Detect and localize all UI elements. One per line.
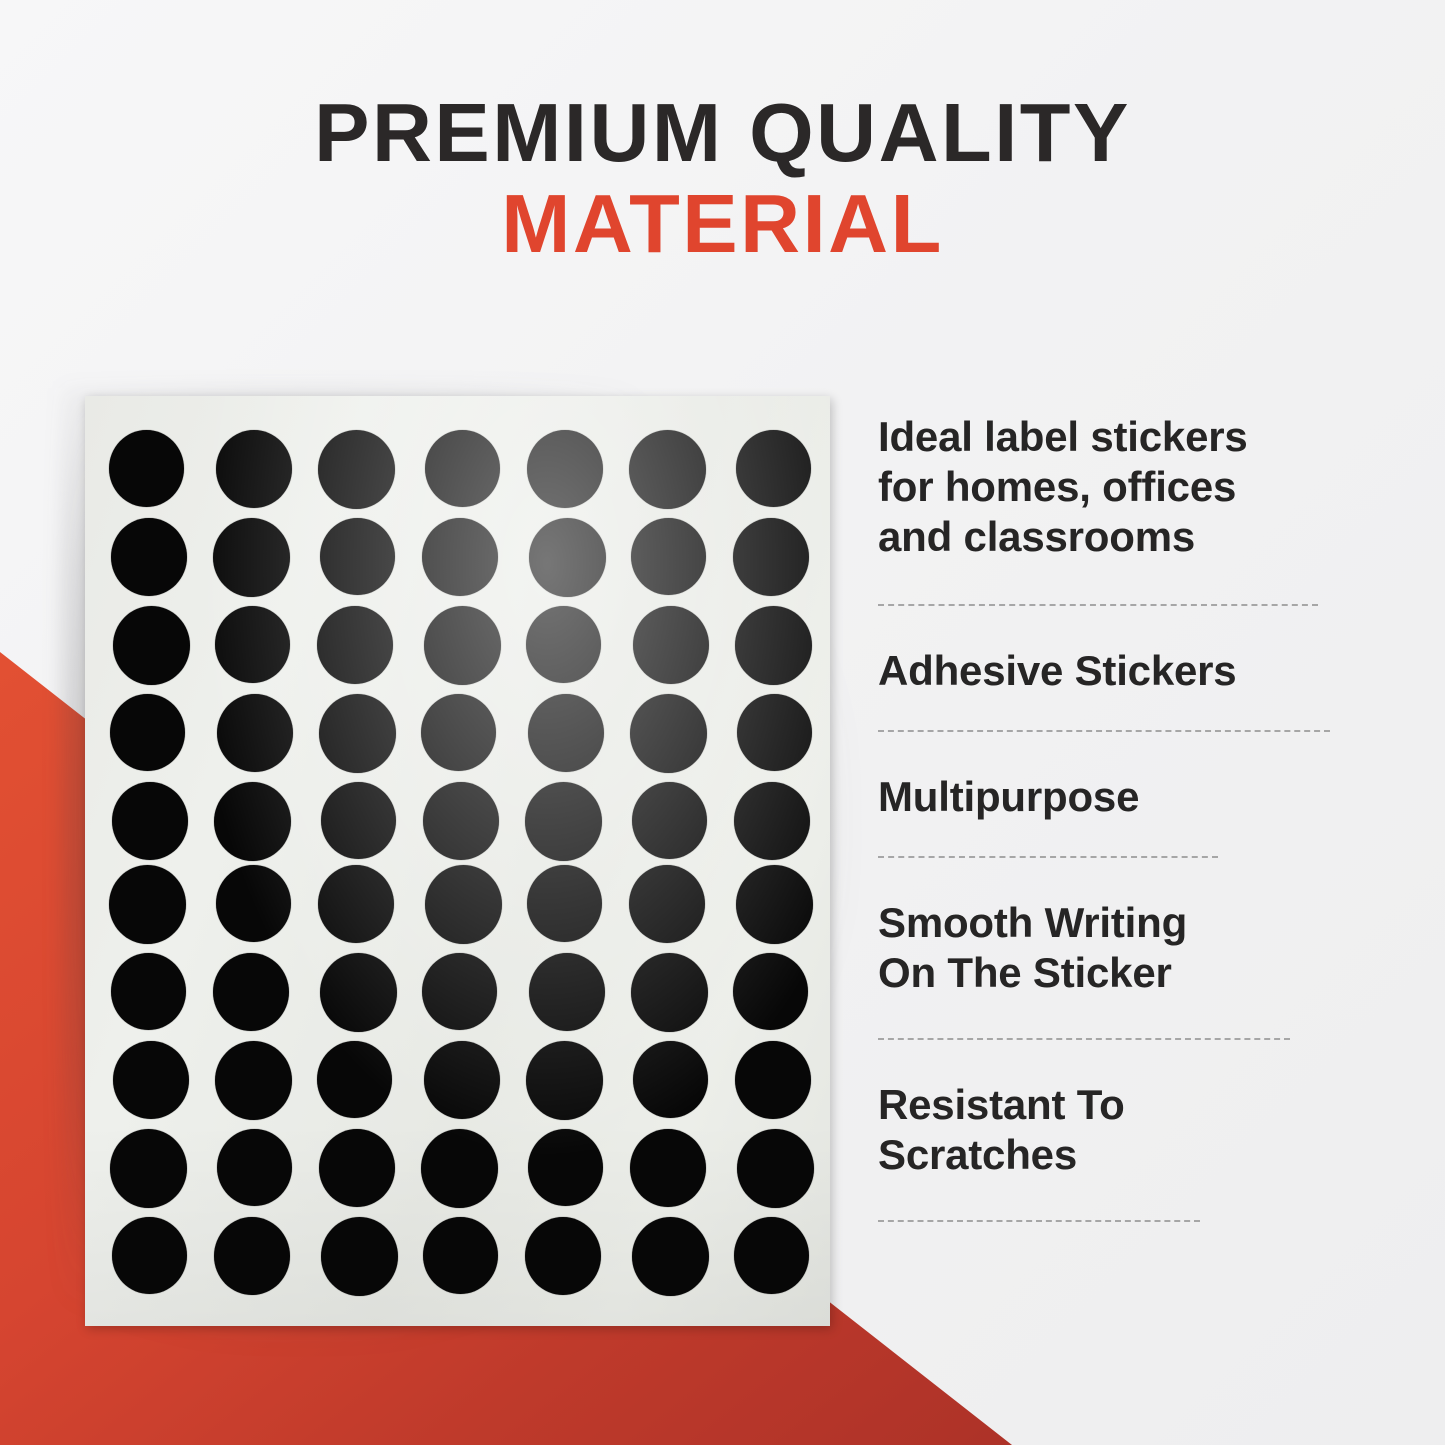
sticker-dot: [632, 782, 707, 859]
feature-text-line: Adhesive Stickers: [878, 646, 1378, 696]
feature-list: Ideal label stickersfor homes, officesan…: [878, 412, 1378, 1262]
feature-text-line: On The Sticker: [878, 948, 1378, 998]
sticker-dot: [110, 694, 185, 771]
sticker-dot: [421, 1129, 498, 1208]
feature-item-multipurpose: Multipurpose: [878, 772, 1378, 822]
sticker-dot: [319, 694, 396, 773]
feature-text-line: for homes, offices: [878, 462, 1378, 512]
headline-line-2: MATERIAL: [0, 183, 1445, 264]
sticker-dot: [318, 430, 395, 509]
feature-separator: [878, 1038, 1290, 1040]
feature-separator: [878, 604, 1318, 606]
sticker-dot: [630, 694, 707, 773]
feature-item-adhesive-stickers: Adhesive Stickers: [878, 646, 1378, 696]
feature-text-line: Smooth Writing: [878, 898, 1378, 948]
feature-label: Adhesive Stickers: [878, 646, 1378, 696]
sticker-dot: [318, 865, 394, 943]
sticker-sheet-photo: [85, 396, 830, 1326]
sticker-dot: [424, 1041, 500, 1119]
sticker-dot: [525, 782, 602, 861]
sticker-dot: [110, 1129, 187, 1208]
feature-item-resistant-to-scratches: Resistant ToScratches: [878, 1080, 1378, 1180]
sticker-dot: [733, 953, 808, 1030]
sticker-dot: [630, 1129, 706, 1207]
sticker-dot: [736, 865, 813, 944]
feature-text-line: Scratches: [878, 1130, 1378, 1180]
sticker-dot: [319, 1129, 395, 1207]
sticker-dot: [111, 518, 187, 596]
sticker-dot: [215, 606, 290, 683]
sticker-dot: [737, 694, 812, 771]
sticker-dot: [631, 518, 706, 595]
sticker-dot: [528, 1129, 603, 1206]
feature-separator: [878, 856, 1218, 858]
sticker-dot: [109, 430, 184, 507]
sticker-dot: [528, 694, 604, 772]
sticker-dot: [112, 1217, 187, 1294]
sticker-dot: [214, 1217, 290, 1295]
sticker-dot: [321, 782, 396, 859]
feature-label: Resistant ToScratches: [878, 1080, 1378, 1180]
sticker-dot: [633, 1041, 708, 1118]
feature-separator: [878, 1220, 1200, 1222]
sticker-dot: [317, 606, 393, 684]
feature-label: Multipurpose: [878, 772, 1378, 822]
sticker-dot: [320, 518, 395, 595]
sticker-dot: [527, 430, 603, 508]
sticker-dot: [112, 782, 188, 860]
sticker-dot: [421, 694, 496, 771]
sticker-dot: [736, 430, 811, 507]
sticker-dot: [422, 518, 498, 596]
sticker-dot: [423, 782, 499, 860]
sticker-dot: [423, 1217, 498, 1294]
sticker-dot: [737, 1129, 814, 1208]
sticker-dot: [213, 953, 289, 1031]
sticker-dot: [529, 953, 605, 1031]
sticker-dot: [216, 865, 291, 942]
sticker-dot: [213, 518, 290, 597]
headline-line-1: PREMIUM QUALITY: [0, 92, 1445, 173]
sticker-dot: [113, 606, 190, 685]
sticker-dot: [217, 1129, 292, 1206]
sticker-dot: [111, 953, 186, 1030]
sticker-dot: [735, 606, 812, 685]
page-title: PREMIUM QUALITY MATERIAL: [0, 92, 1445, 265]
sticker-dot: [216, 430, 292, 508]
feature-text-line: Multipurpose: [878, 772, 1378, 822]
sticker-dot: [317, 1041, 392, 1118]
sticker-dot: [733, 518, 809, 596]
feature-text-line: and classrooms: [878, 512, 1378, 562]
sticker-dot: [215, 1041, 292, 1120]
sticker-dot: [526, 606, 601, 683]
sticker-dot: [631, 953, 708, 1032]
feature-item-smooth-writing: Smooth WritingOn The Sticker: [878, 898, 1378, 998]
sticker-dot: [629, 430, 706, 509]
sticker-dot: [424, 606, 501, 685]
sticker-dot: [425, 430, 500, 507]
sticker-dot: [422, 953, 497, 1030]
sticker-dot: [529, 518, 606, 597]
sticker-dot: [735, 1041, 811, 1119]
sticker-dot: [527, 865, 602, 942]
sticker-dot: [525, 1217, 601, 1295]
feature-label: Smooth WritingOn The Sticker: [878, 898, 1378, 998]
sticker-dot: [526, 1041, 603, 1120]
sticker-dot: [425, 865, 502, 944]
sticker-dot: [109, 865, 186, 944]
sticker-dot: [321, 1217, 398, 1296]
sticker-dot: [113, 1041, 189, 1119]
sticker-dot: [629, 865, 705, 943]
sticker-dot: [633, 606, 709, 684]
sticker-dot: [214, 782, 291, 861]
feature-text-line: Resistant To: [878, 1080, 1378, 1130]
sticker-dot: [632, 1217, 709, 1296]
sticker-dot: [217, 694, 293, 772]
feature-text-line: Ideal label stickers: [878, 412, 1378, 462]
sticker-dot: [320, 953, 397, 1032]
feature-separator: [878, 730, 1330, 732]
infographic-canvas: PREMIUM QUALITY MATERIAL Ideal label sti…: [0, 0, 1445, 1445]
sticker-dot: [734, 782, 810, 860]
feature-label: Ideal label stickersfor homes, officesan…: [878, 412, 1378, 562]
sticker-sheet-paper: [85, 396, 830, 1326]
feature-item-ideal-label-stickers: Ideal label stickersfor homes, officesan…: [878, 412, 1378, 562]
sticker-dot: [734, 1217, 809, 1294]
